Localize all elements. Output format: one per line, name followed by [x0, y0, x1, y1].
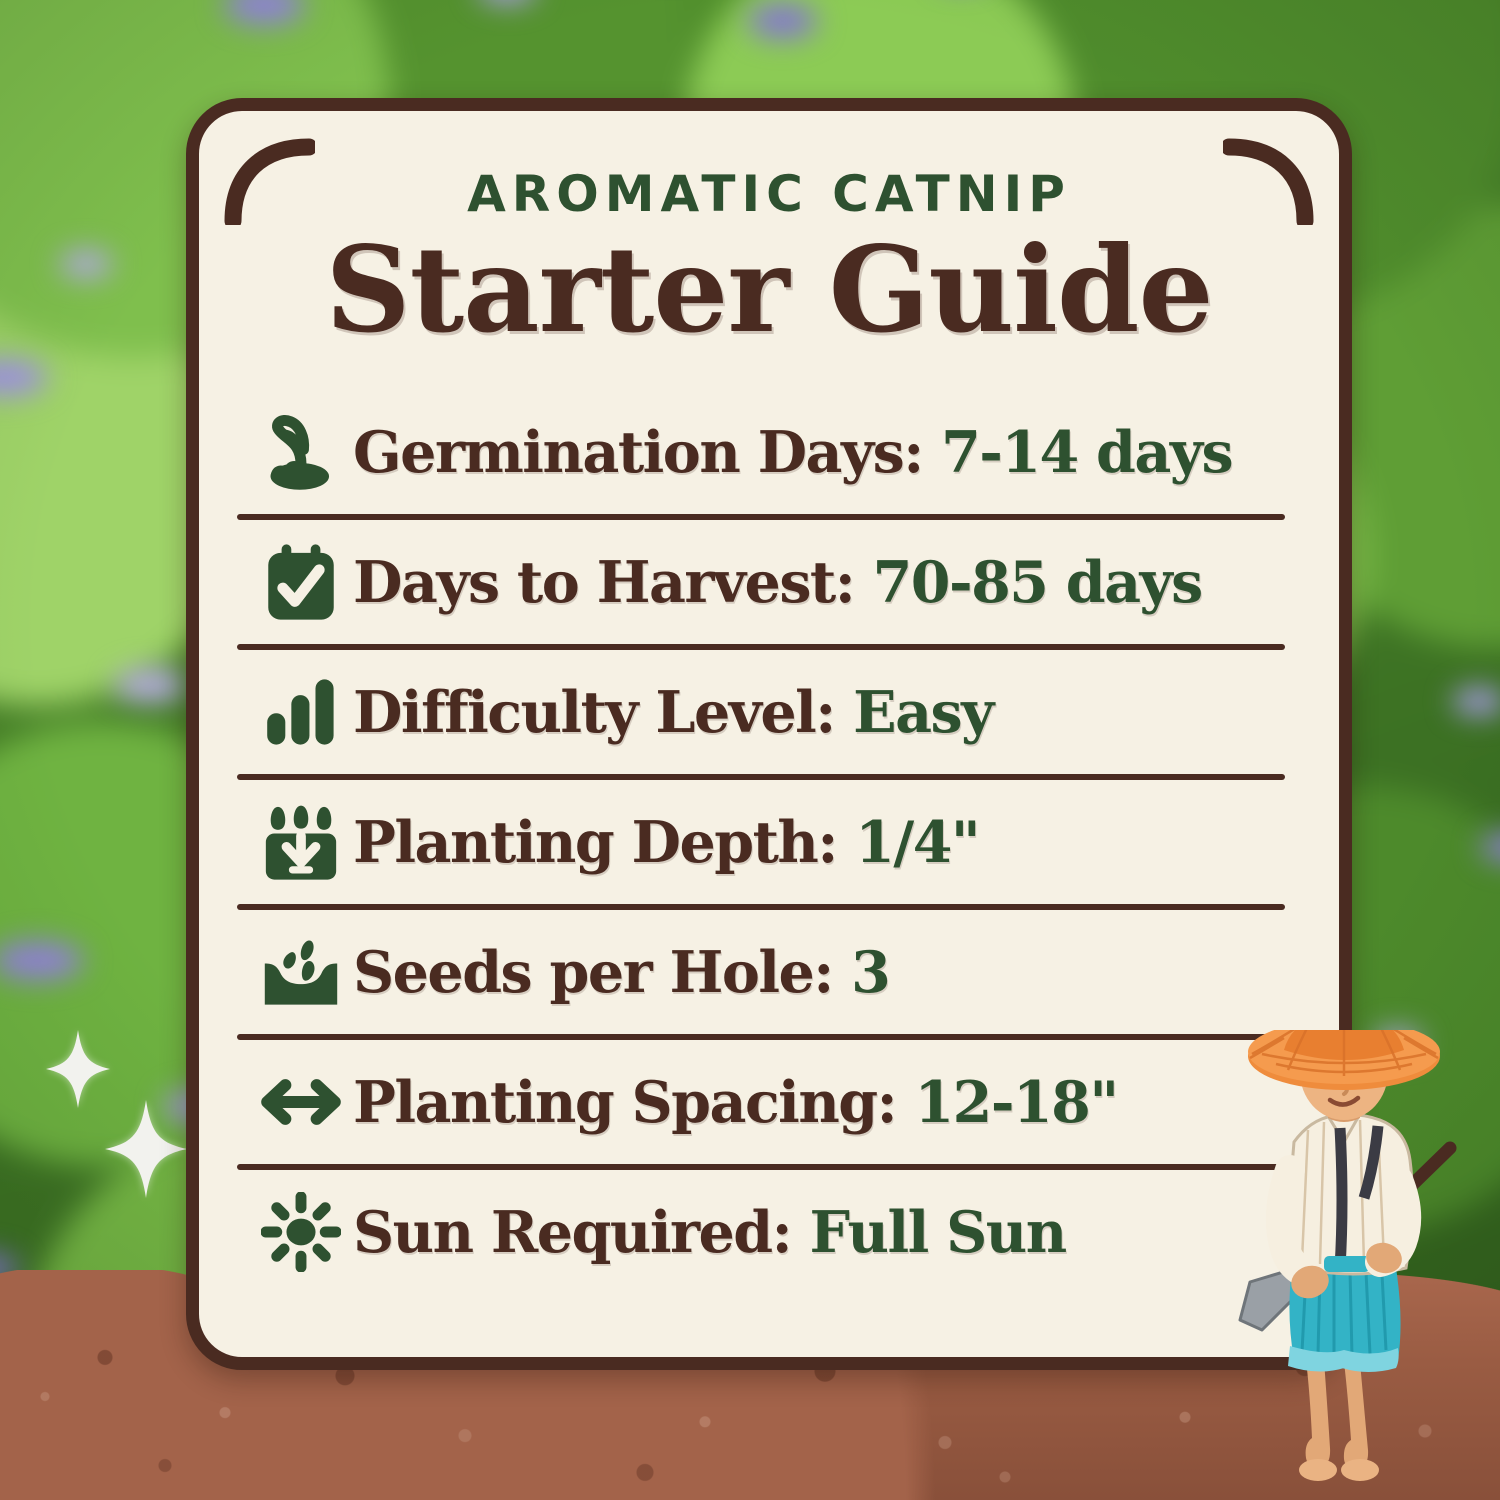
straw-hat-icon: [1248, 1030, 1440, 1090]
corner-arc-decoration-icon: [223, 137, 315, 230]
list-item: Seeds per Hole: 3: [199, 910, 1339, 1034]
list-item: Planting Spacing: 12-18": [199, 1040, 1339, 1164]
list-item-label: Germination Days: [353, 419, 903, 486]
list-item: Germination Days: 7-14 days: [199, 390, 1339, 514]
card-header: AROMATIC CATNIP Starter Guide: [199, 111, 1339, 352]
list-item-label: Difficulty Level: [353, 679, 815, 746]
gardener-illustration: [1232, 1030, 1500, 1500]
bar-chart-icon: [249, 677, 353, 747]
list-item: Difficulty Level: Easy: [199, 650, 1339, 774]
list-item-value: 70-85 days: [873, 549, 1202, 616]
list-item-value: 1/4": [855, 809, 979, 876]
list-item-label: Days to Harvest: [353, 549, 835, 616]
list-item-text: Difficulty Level: Easy: [353, 679, 993, 746]
list-item: Planting Depth: 1/4": [199, 780, 1339, 904]
list-item-value: 7-14 days: [941, 419, 1232, 486]
seedling-icon: [249, 413, 353, 491]
list-item-value: 3: [851, 939, 889, 1006]
list-item-label: Seeds per Hole: [353, 939, 813, 1006]
info-list: Germination Days: 7-14 days Days to Harv…: [199, 390, 1339, 1294]
seeds-hole-icon: [249, 937, 353, 1007]
list-item-label: Planting Spacing: [353, 1069, 877, 1136]
corner-arc-decoration-icon: [1223, 137, 1315, 230]
list-item-label: Planting Depth: [353, 809, 817, 876]
list-item-text: Planting Spacing: 12-18": [353, 1069, 1118, 1136]
list-item-label: Sun Required: [353, 1199, 772, 1266]
list-item-value: Easy: [853, 679, 993, 746]
list-item-value: 12-18": [915, 1069, 1118, 1136]
sparkle-icon: [105, 1100, 187, 1198]
list-item: Sun Required: Full Sun: [199, 1170, 1339, 1294]
list-item-text: Days to Harvest: 70-85 days: [353, 549, 1202, 616]
calendar-check-icon: [249, 542, 353, 622]
list-item-text: Germination Days: 7-14 days: [353, 419, 1232, 486]
horizontal-arrow-icon: [249, 1074, 353, 1130]
list-item-text: Seeds per Hole: 3: [353, 939, 889, 1006]
card-subtitle: AROMATIC CATNIP: [199, 165, 1339, 223]
page-title: Starter Guide: [199, 227, 1339, 352]
list-item-text: Planting Depth: 1/4": [353, 809, 979, 876]
seed-depth-icon: [249, 802, 353, 882]
list-item-text: Sun Required: Full Sun: [353, 1199, 1066, 1266]
starter-guide-card: AROMATIC CATNIP Starter Guide Germinatio…: [186, 98, 1352, 1370]
list-item: Days to Harvest: 70-85 days: [199, 520, 1339, 644]
list-item-value: Full Sun: [810, 1199, 1066, 1266]
sparkle-icon: [46, 1030, 110, 1108]
sun-icon: [249, 1192, 353, 1272]
